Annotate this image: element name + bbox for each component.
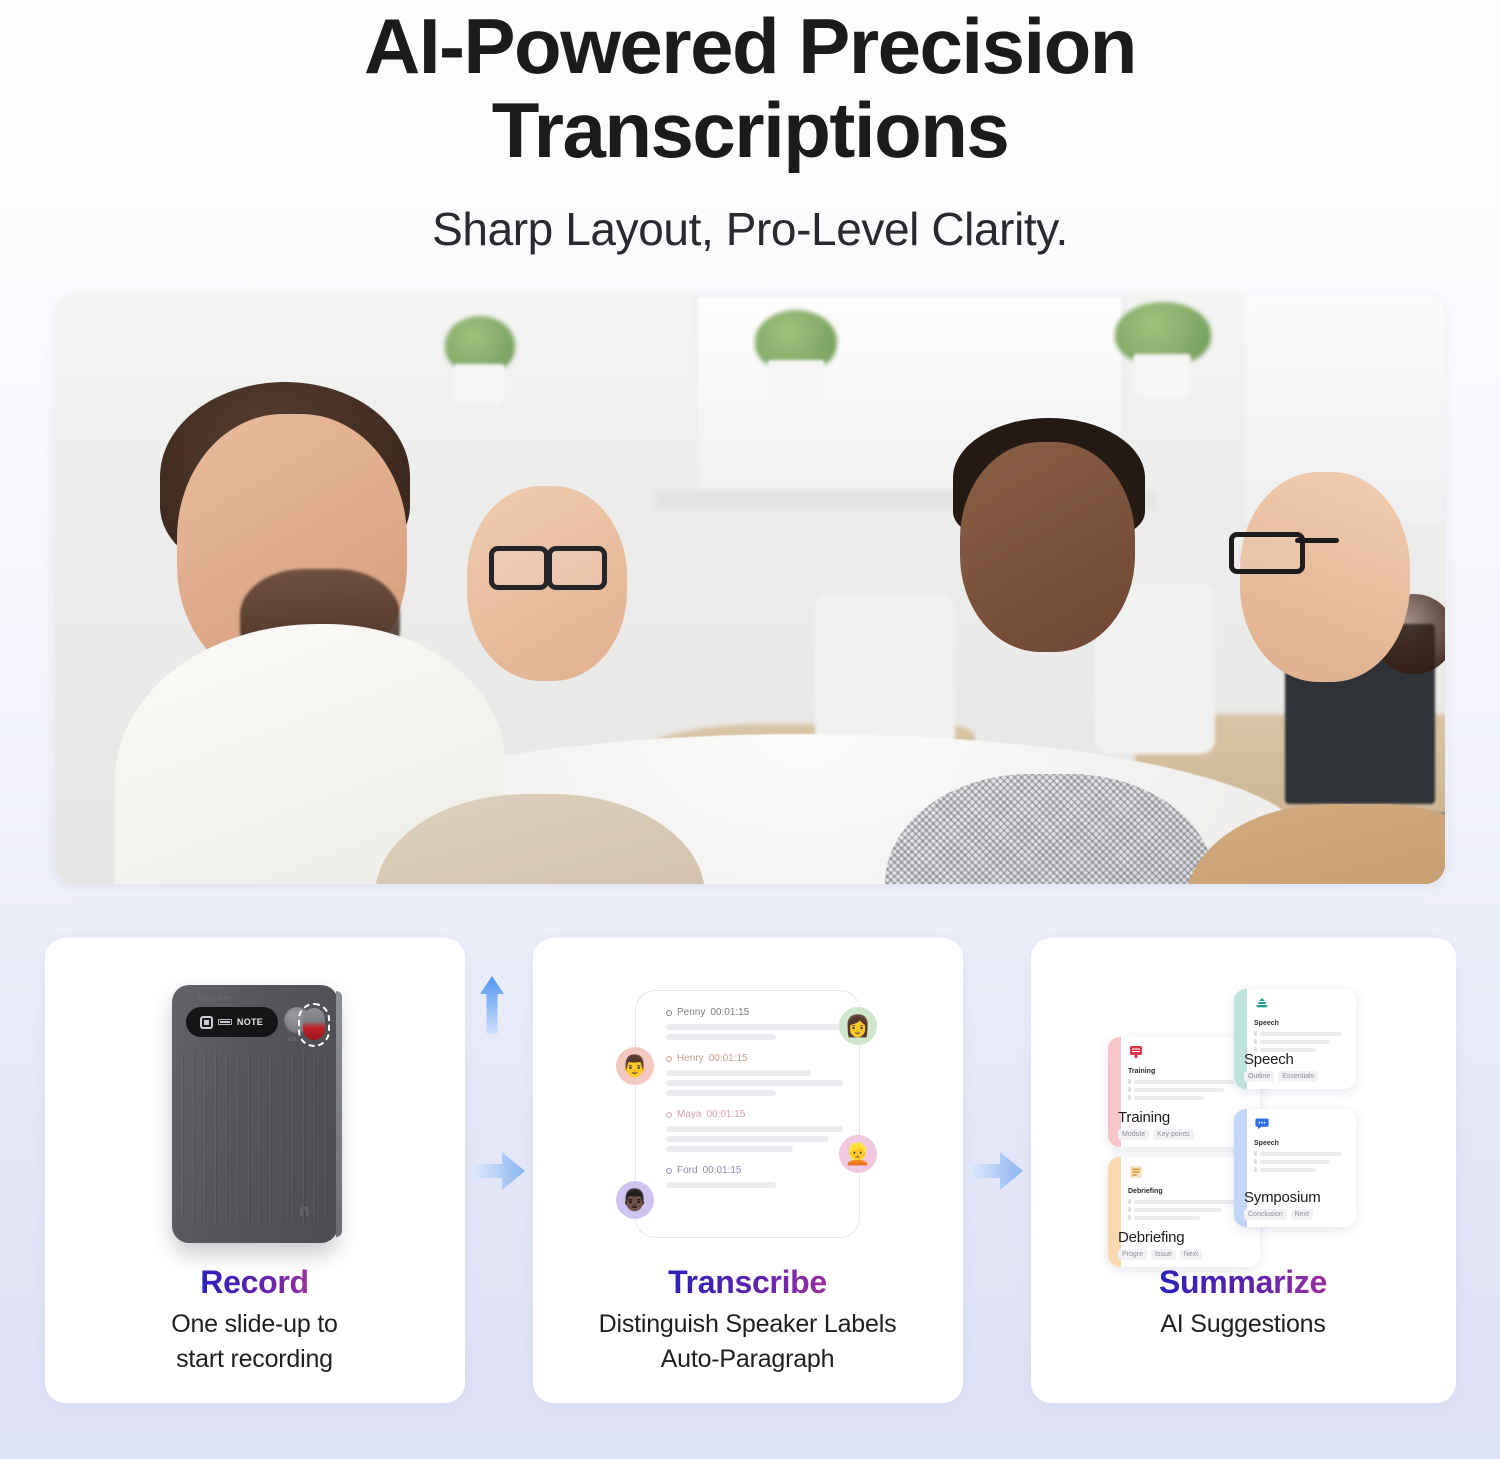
card-title: Summarize (1159, 1264, 1327, 1301)
note-title: Speech (1244, 1051, 1348, 1068)
speaker-label: Maya 00:01:15 (666, 1109, 843, 1120)
note-tag: Key points (1153, 1129, 1194, 1140)
transcript-row: Ford 00:01:15 (666, 1165, 843, 1188)
knob-label: VOL (288, 1037, 298, 1043)
avatar-glyph: 👨 (622, 1056, 648, 1077)
list-icon (1128, 1044, 1144, 1060)
plant-pot (453, 364, 505, 404)
note-tag: Next (1180, 1249, 1202, 1260)
note-tag: Progre (1118, 1249, 1147, 1260)
note-tags: Conclusion Next (1244, 1209, 1348, 1220)
note-line (1254, 1167, 1348, 1172)
note-footer: Training Module Key points (1118, 1109, 1252, 1140)
device-texture (182, 1051, 330, 1223)
page-subtitle: Sharp Layout, Pro-Level Clarity. (0, 202, 1500, 256)
glasses-icon (1229, 532, 1339, 566)
layers-icon (1254, 996, 1270, 1012)
card-title: Record (200, 1264, 308, 1301)
note-line (1254, 1151, 1348, 1156)
speaker-time: 00:01:15 (709, 1053, 748, 1064)
note-title: Debriefing (1118, 1229, 1252, 1246)
text-placeholder-line (666, 1182, 776, 1188)
card-title: Transcribe (668, 1264, 827, 1301)
glasses-icon (489, 546, 607, 582)
text-placeholder-line (666, 1070, 811, 1076)
feature-card-summarize: Training Training Module Key points (1031, 938, 1456, 1403)
recorder-device: NoteRec NOTE VOL n (172, 985, 338, 1243)
note-line (1128, 1095, 1252, 1100)
text-placeholder-line (666, 1136, 829, 1142)
speaker-dot-icon (666, 1010, 672, 1016)
card-description: AI Suggestions (1160, 1307, 1325, 1342)
record-slider[interactable] (298, 1003, 330, 1047)
text-placeholder-line (666, 1024, 843, 1030)
page-header: AI-Powered Precision Transcriptions Shar… (0, 0, 1500, 256)
speaker-time: 00:01:15 (710, 1007, 749, 1018)
note-tag: Essentials (1278, 1071, 1318, 1082)
transcript-row: Penny 00:01:15 (666, 1007, 843, 1040)
avatar: 👨🏿 (616, 1181, 654, 1219)
transcript-row: Maya 00:01:15 (666, 1109, 843, 1152)
record-square-icon (200, 1016, 213, 1029)
feature-cards-row: NoteRec NOTE VOL n (0, 938, 1500, 1403)
note-footer: Speech Outline Essentials (1244, 1051, 1348, 1082)
speaker-label: Henry 00:01:15 (666, 1053, 843, 1064)
note-footer: Symposium Conclusion Next (1244, 1189, 1348, 1220)
note-card-symposium[interactable]: Speech Symposium Conclusion Next (1234, 1109, 1356, 1227)
text-placeholder-line (666, 1080, 843, 1086)
text-placeholder-line (666, 1146, 793, 1152)
speaker-label: Ford 00:01:15 (666, 1165, 843, 1176)
note-title: Symposium (1244, 1189, 1348, 1206)
note-line (1254, 1159, 1348, 1164)
face (1240, 472, 1410, 682)
summarize-illustration: Training Training Module Key points (1031, 964, 1456, 1264)
speaker-name: Maya (677, 1109, 701, 1120)
note-tag: Outline (1244, 1071, 1274, 1082)
avatar-glyph: 👩 (845, 1016, 871, 1037)
feature-card-transcribe: Penny 00:01:15 Henry 00:01:15 (533, 938, 963, 1403)
speaker-name: Penny (677, 1007, 705, 1018)
speaker-dot-icon (666, 1168, 672, 1174)
desc-line-1: One slide-up to (171, 1307, 338, 1342)
screen-label: NOTE (237, 1018, 263, 1027)
note-line (1254, 1031, 1348, 1036)
avatar: 👨 (616, 1047, 654, 1085)
speech-bubble-icon (1254, 1116, 1270, 1132)
speaker-name: Henry (677, 1053, 704, 1064)
page-title: AI-Powered Precision Transcriptions (0, 4, 1500, 172)
battery-icon (218, 1019, 232, 1025)
device-logo: n (299, 1201, 309, 1221)
note-footer: Debriefing Progre Issue Next (1118, 1229, 1252, 1260)
avatar: 👩 (839, 1007, 877, 1045)
transcript-panel: Penny 00:01:15 Henry 00:01:15 (635, 990, 860, 1238)
note-card-speech[interactable]: Speech Speech Outline Essentials (1234, 989, 1356, 1089)
note-title: Training (1118, 1109, 1252, 1126)
desc-line-2: start recording (171, 1342, 338, 1377)
device-screen: NOTE (186, 1007, 278, 1037)
text-placeholder-line (666, 1034, 776, 1040)
text-placeholder-line (666, 1090, 776, 1096)
device-brand: NoteRec (198, 994, 233, 1003)
hero-photo-scene (55, 294, 1445, 884)
transcribe-illustration: Penny 00:01:15 Henry 00:01:15 (533, 964, 963, 1264)
note-line (1254, 1039, 1348, 1044)
slider-pill (303, 1008, 325, 1040)
speaker-time: 00:01:15 (703, 1165, 742, 1176)
speaker-dot-icon (666, 1056, 672, 1062)
avatar-glyph: 👱 (845, 1144, 871, 1165)
plant-pot (1133, 354, 1191, 398)
note-cards-group: Training Training Module Key points (1108, 989, 1378, 1239)
arrow-right-icon (472, 1147, 526, 1195)
note-tags: Outline Essentials (1244, 1071, 1348, 1082)
note-inner-label: Speech (1254, 1020, 1348, 1027)
record-illustration: NoteRec NOTE VOL n (45, 964, 465, 1264)
note-tags: Module Key points (1118, 1129, 1252, 1140)
card-description: Distinguish Speaker Labels Auto-Paragrap… (599, 1307, 897, 1376)
desc-line-2: Auto-Paragraph (599, 1342, 897, 1377)
card-description: One slide-up to start recording (171, 1307, 338, 1376)
arrow-connector-2 (963, 938, 1031, 1403)
avatar: 👱 (839, 1135, 877, 1173)
lines-icon (1128, 1164, 1144, 1180)
note-tag: Issue (1151, 1249, 1176, 1260)
avatar-glyph: 👨🏿 (622, 1190, 648, 1211)
transcript-row: Henry 00:01:15 (666, 1053, 843, 1096)
note-tag: Next (1291, 1209, 1313, 1220)
text-placeholder-line (666, 1126, 843, 1132)
arrow-right-icon (970, 1147, 1024, 1195)
speaker-label: Penny 00:01:15 (666, 1007, 843, 1018)
note-tags: Progre Issue Next (1118, 1249, 1252, 1260)
arrow-up-icon (479, 974, 505, 1036)
speaker-time: 00:01:15 (706, 1109, 745, 1120)
note-tag: Conclusion (1244, 1209, 1287, 1220)
face (960, 442, 1135, 652)
speaker-dot-icon (666, 1112, 672, 1118)
note-inner-label: Speech (1254, 1140, 1348, 1147)
feature-card-record: NoteRec NOTE VOL n (45, 938, 465, 1403)
speaker-name: Ford (677, 1165, 698, 1176)
desc-line-1: Distinguish Speaker Labels (599, 1307, 897, 1342)
hero-image (55, 294, 1445, 884)
plant-pot (767, 360, 825, 406)
desc-line-1: AI Suggestions (1160, 1307, 1325, 1342)
note-tag: Module (1118, 1129, 1149, 1140)
